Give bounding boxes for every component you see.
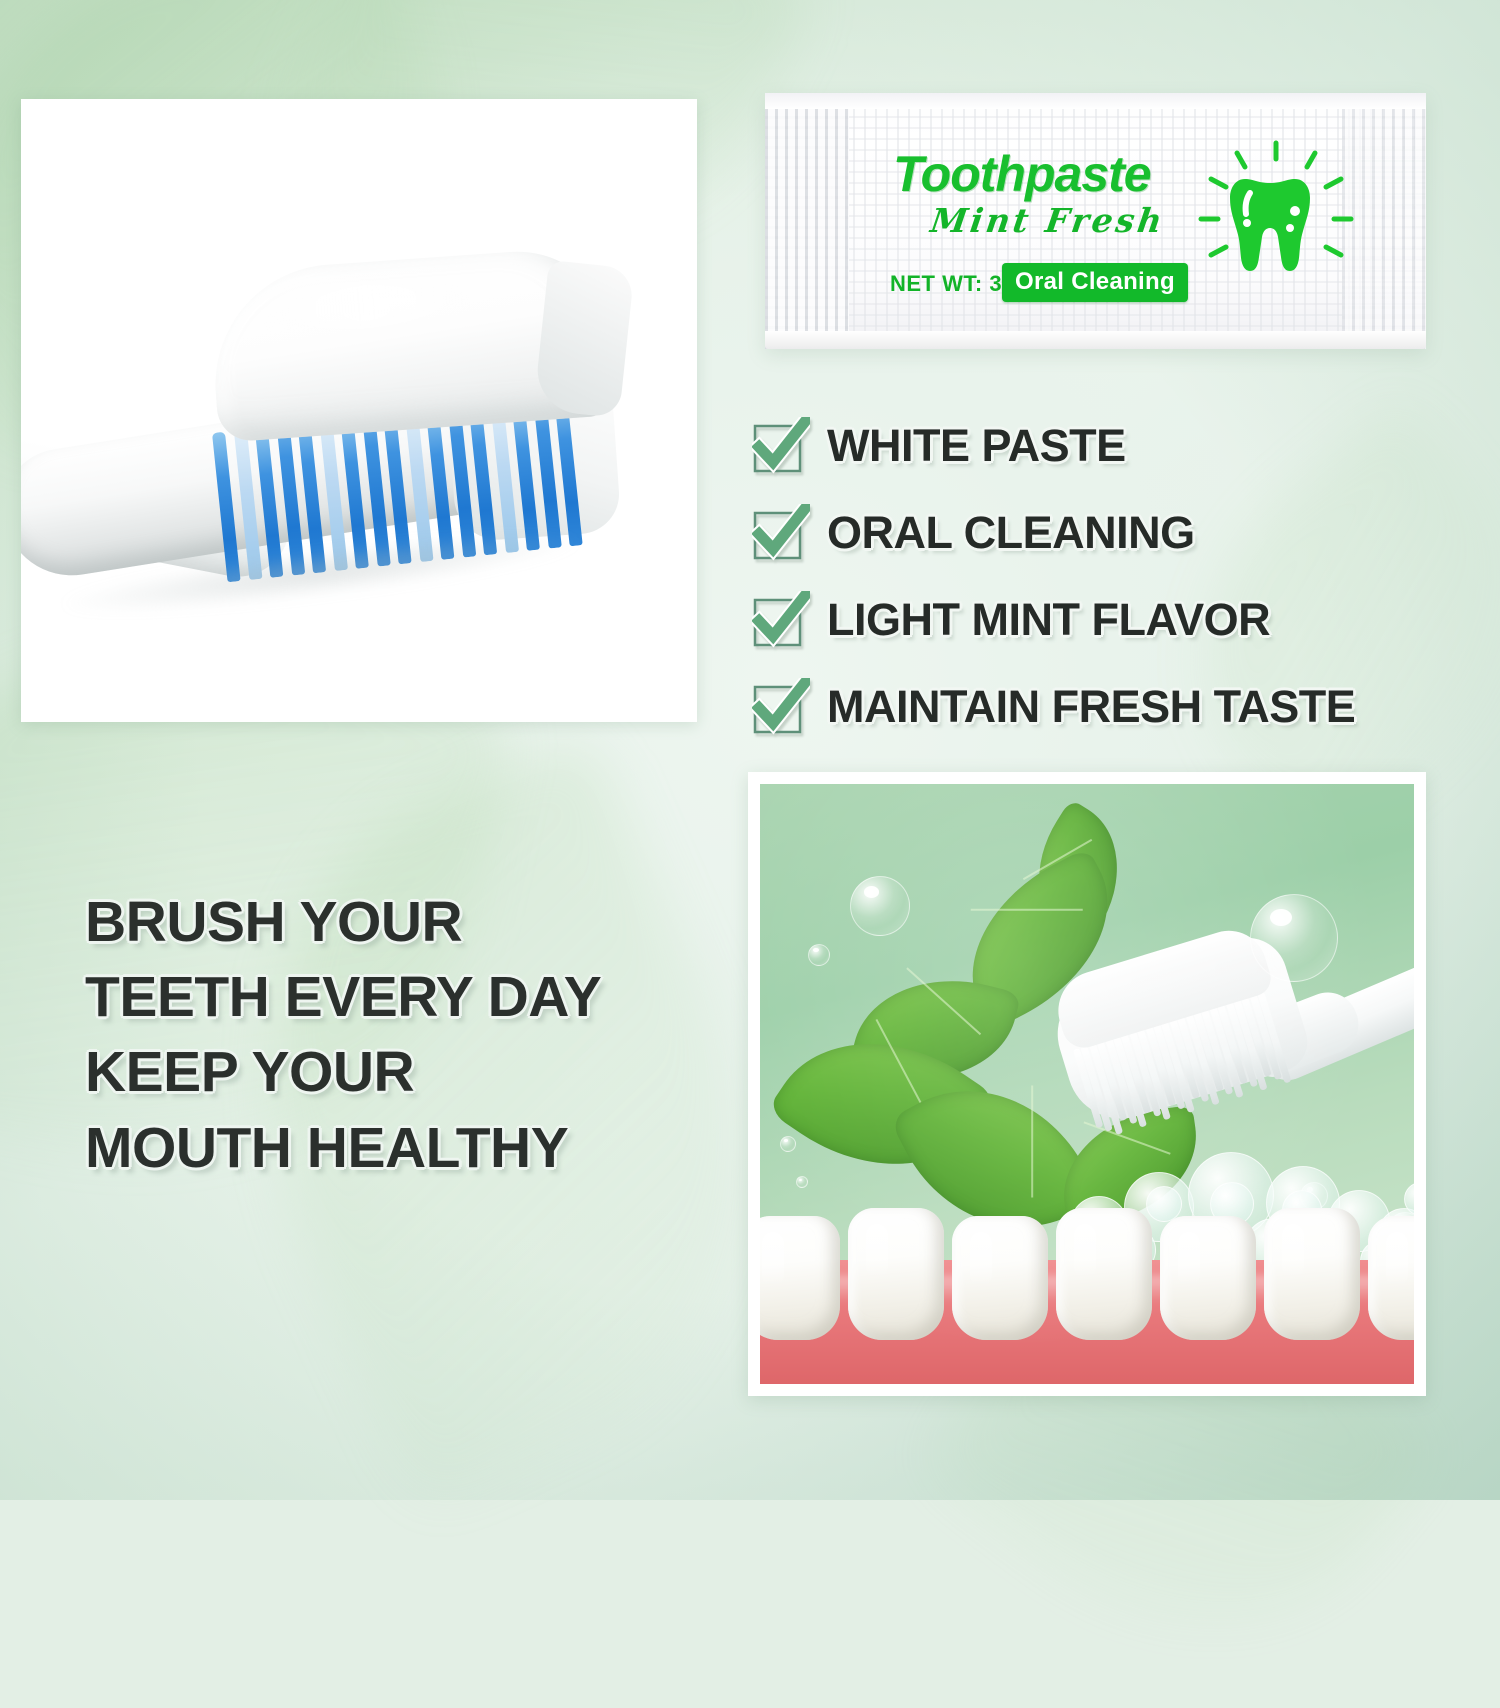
list-item: ORAL CLEANING: [752, 504, 1482, 561]
checkbox-tick-icon: [752, 417, 810, 475]
list-item: MAINTAIN FRESH TASTE: [752, 678, 1482, 735]
sachet-net-weight: NET WT: 3g: [890, 271, 1016, 297]
slogan-line: BRUSH YOUR: [85, 885, 725, 960]
feature-label: LIGHT MINT FLAVOR: [827, 597, 1270, 642]
feature-label: MAINTAIN FRESH TASTE: [827, 684, 1355, 729]
scene-light-tint: [760, 784, 1414, 1384]
slogan-line: MOUTH HEALTHY: [85, 1111, 725, 1186]
slogan-line: KEEP YOUR: [85, 1035, 725, 1110]
teeth-mint-toothbrush-photo: [748, 772, 1426, 1396]
list-item: LIGHT MINT FLAVOR: [752, 591, 1482, 648]
sachet-brand-title: Toothpaste: [893, 145, 1151, 203]
toothpaste-blob-tip: [533, 260, 634, 418]
checkbox-tick-icon: [752, 678, 810, 736]
checkbox-tick-icon: [752, 591, 810, 649]
feature-checklist: WHITE PASTE ORAL CLEANING LIGHT MINT FLA…: [752, 417, 1482, 765]
feature-label: WHITE PASTE: [827, 423, 1126, 468]
marketing-slogan: BRUSH YOUR TEETH EVERY DAY KEEP YOUR MOU…: [85, 885, 725, 1186]
list-item: WHITE PASTE: [752, 417, 1482, 474]
shining-tooth-icon: [1189, 131, 1369, 311]
feature-label: ORAL CLEANING: [827, 510, 1195, 555]
sachet-oral-cleaning-badge: Oral Cleaning: [1002, 263, 1188, 302]
toothpaste-sachet: Toothpaste Mint Fresh NET WT: 3g Oral Cl…: [765, 93, 1426, 349]
sachet-flavor-script: Mint Fresh: [928, 201, 1167, 240]
toothbrush-illustration: [21, 99, 697, 722]
slogan-line: TEETH EVERY DAY: [85, 960, 725, 1035]
checkbox-tick-icon: [752, 504, 810, 562]
lifestyle-scene: [760, 784, 1414, 1384]
toothbrush-paste-photo: [21, 99, 697, 722]
sachet-front-face: Toothpaste Mint Fresh NET WT: 3g Oral Cl…: [765, 93, 1426, 349]
